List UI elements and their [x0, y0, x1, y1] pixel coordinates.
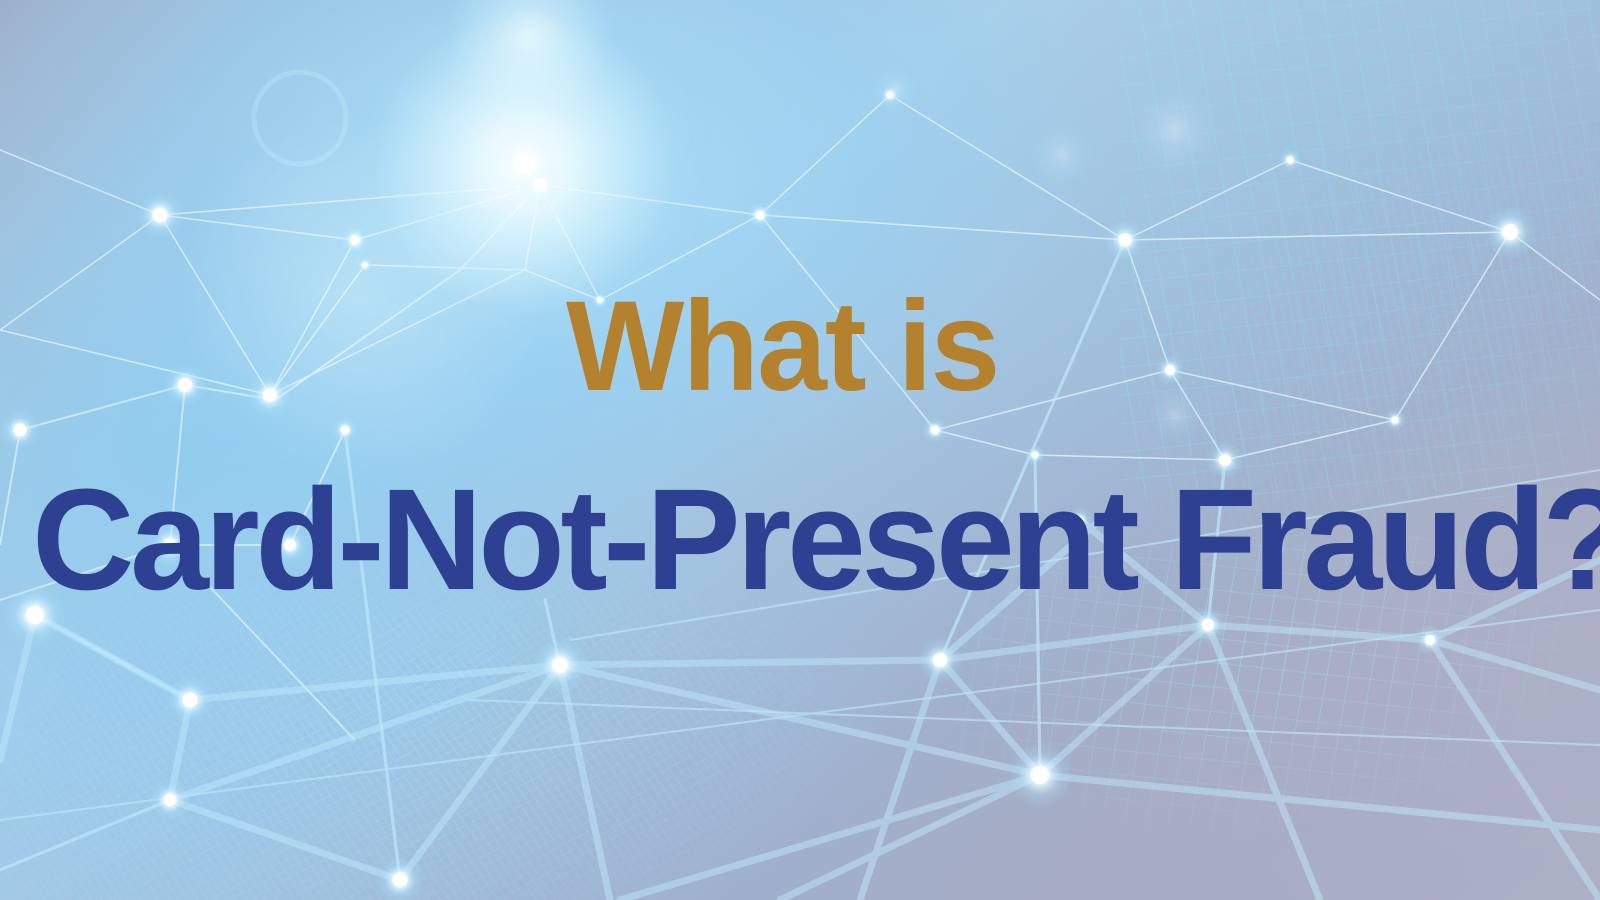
hero-text-block: What is Card-Not-Present Fraud?	[0, 0, 1600, 900]
banner-hero: What is Card-Not-Present Fraud?	[0, 0, 1600, 900]
hero-eyebrow: What is	[566, 283, 998, 411]
page-title: Card-Not-Present Fraud?	[32, 468, 1600, 612]
